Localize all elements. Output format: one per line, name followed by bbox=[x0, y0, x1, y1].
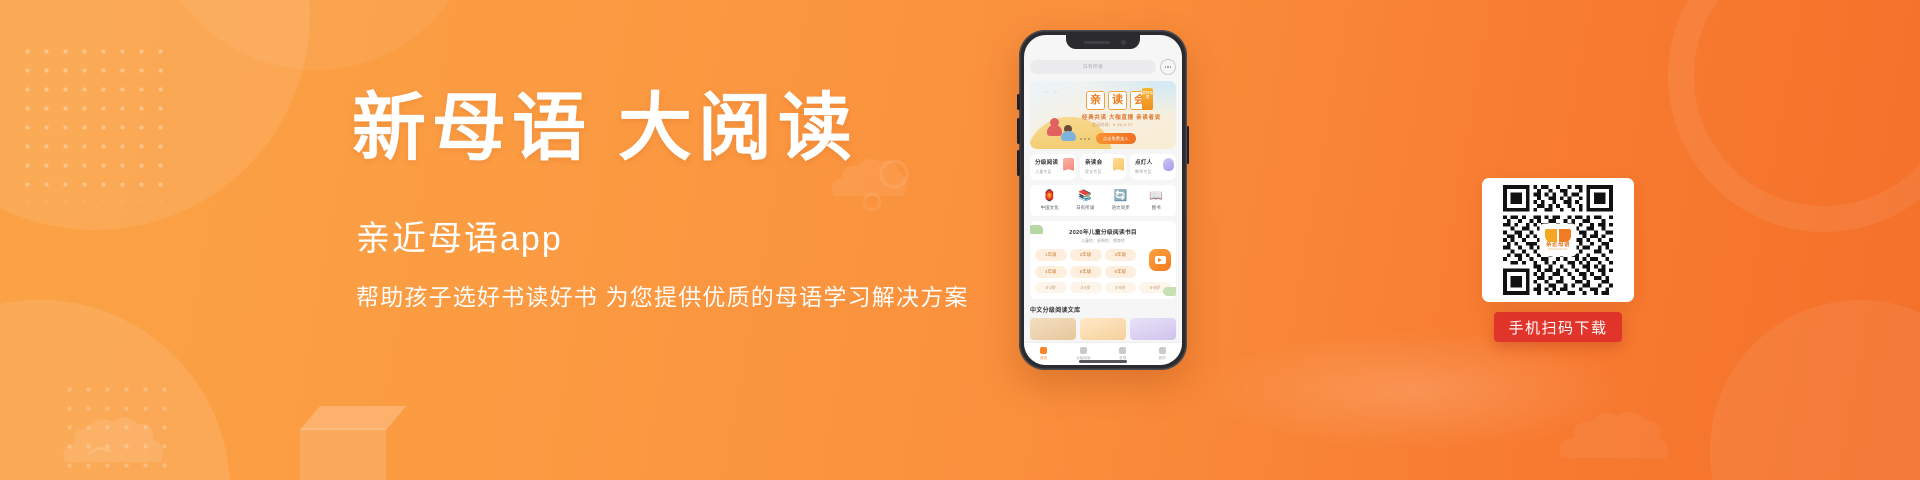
app-name: 亲近母语app bbox=[356, 222, 1052, 256]
age-chips-row: 0-3岁 3-4岁 4-5岁 5-6岁 bbox=[1035, 282, 1171, 293]
hero-birds-icon: ⌃ ⌃ bbox=[1044, 91, 1060, 97]
hero-pager-dots[interactable] bbox=[1080, 138, 1090, 140]
library-book-cover[interactable] bbox=[1030, 318, 1076, 340]
phone-volume-down-button bbox=[1017, 150, 1020, 176]
sync-icon: 🔄 bbox=[1114, 191, 1128, 202]
quick-link-daily-recitation[interactable]: 📚 日有所诵 bbox=[1068, 191, 1104, 211]
decorative-circle-bottom-left bbox=[0, 300, 230, 480]
library-book-row bbox=[1030, 318, 1176, 340]
decorative-glow bbox=[1200, 330, 1630, 450]
grid-icon bbox=[1080, 347, 1087, 354]
booklist-subtitle: 儿童性、经典性、教育性 bbox=[1035, 238, 1171, 244]
library-book-cover[interactable] bbox=[1130, 318, 1176, 340]
user-icon bbox=[1159, 347, 1166, 354]
app-search-bar: 日有所诵 bbox=[1030, 59, 1176, 75]
hero-title-char-2: 读 bbox=[1108, 91, 1127, 110]
phone-front-camera bbox=[1121, 40, 1126, 45]
library-section-title: 中文分级阅读文库 bbox=[1030, 305, 1176, 314]
phone-speaker bbox=[1084, 41, 1110, 44]
booklist-module: 2020年儿童分级阅读书目 儿童性、经典性、教育性 1年级 2年级 3年级 4年… bbox=[1030, 221, 1176, 300]
home-icon bbox=[1040, 347, 1047, 354]
quick-link-chinese-culture[interactable]: 🏮 中国文化 bbox=[1032, 191, 1068, 211]
age-chip-3[interactable]: 4-5岁 bbox=[1105, 282, 1137, 293]
phone-notch bbox=[1066, 35, 1140, 49]
compass-icon bbox=[1119, 347, 1126, 354]
decorative-ring-top-right bbox=[1668, 0, 1920, 232]
grade-chip-1[interactable]: 1年级 bbox=[1035, 249, 1067, 261]
grade-chip-3[interactable]: 3年级 bbox=[1105, 249, 1137, 261]
more-dots-icon[interactable] bbox=[1160, 59, 1176, 75]
quick-link-label: 日有所诵 bbox=[1076, 205, 1094, 211]
category-cards: 分级阅读 儿童专区 亲读会 家长专区 点灯人 教师专区 bbox=[1030, 154, 1176, 180]
open-book-icon bbox=[1545, 229, 1571, 242]
tagline: 帮助孩子选好书读好书 为您提供优质的母语学习解决方案 bbox=[356, 286, 1052, 309]
hero-child-2-body bbox=[1061, 131, 1076, 141]
grade-chip-4[interactable]: 4年级 bbox=[1035, 266, 1067, 278]
decorative-circle-top-left bbox=[0, 0, 310, 230]
grade-chips-row-1: 1年级 2年级 3年级 bbox=[1035, 249, 1171, 261]
phone-mute-switch bbox=[1017, 94, 1020, 110]
age-chip-1[interactable]: 0-3岁 bbox=[1035, 282, 1067, 293]
qr-code-card[interactable]: 亲近母语 QINJIN MUYU bbox=[1482, 178, 1634, 302]
quick-link-label: 中国文化 bbox=[1041, 205, 1059, 211]
hero-title: 亲 读 会 bbox=[1086, 91, 1149, 110]
hero-schedule: 活动时间：9.16-9.27 bbox=[1092, 123, 1133, 128]
hero-badge: 限时免费 bbox=[1142, 88, 1153, 110]
page-title: 新母语大阅读 bbox=[352, 92, 1052, 166]
decorative-dot-grid bbox=[18, 42, 168, 202]
app-content: 日有所诵 ⌃ ⌃ 亲 读 会 bbox=[1024, 51, 1182, 365]
lamp-purple-icon bbox=[1163, 158, 1174, 171]
phone-home-indicator bbox=[1079, 360, 1127, 363]
category-card-reading-club[interactable]: 亲读会 家长专区 bbox=[1080, 154, 1126, 180]
category-card-lamp-lighter[interactable]: 点灯人 教师专区 bbox=[1130, 154, 1176, 180]
tab-mine[interactable]: 我的 bbox=[1143, 347, 1183, 361]
brand-logo: 亲近母语 QINJIN MUYU bbox=[1541, 225, 1575, 255]
library-book-cover[interactable] bbox=[1080, 318, 1126, 340]
search-input[interactable]: 日有所诵 bbox=[1030, 60, 1156, 74]
tab-graded-reading[interactable]: 分级阅读 bbox=[1064, 347, 1104, 361]
grade-chip-5[interactable]: 5年级 bbox=[1070, 266, 1102, 278]
bookmark-red-icon bbox=[1063, 158, 1074, 171]
grade-chip-6[interactable]: 6年级 bbox=[1105, 266, 1137, 278]
booklist-title: 2020年儿童分级阅读书目 bbox=[1035, 227, 1171, 236]
tab-label: 我的 bbox=[1159, 356, 1166, 361]
decorative-circle-top-left-2 bbox=[150, 0, 480, 70]
grade-chip-2[interactable]: 2年级 bbox=[1070, 249, 1102, 261]
decorative-cube bbox=[300, 428, 386, 480]
logo-subtitle: QINJIN MUYU bbox=[1548, 249, 1567, 252]
headline-part-1: 新母语 bbox=[352, 88, 592, 170]
category-card-graded-reading[interactable]: 分级阅读 儿童专区 bbox=[1030, 154, 1076, 180]
phone-screen: 日有所诵 ⌃ ⌃ 亲 读 会 bbox=[1024, 35, 1182, 365]
decorative-dot-grid-2 bbox=[60, 380, 180, 470]
download-button[interactable]: 手机扫码下载 bbox=[1494, 312, 1622, 342]
decorative-circle-bottom-right bbox=[1710, 300, 1920, 480]
quick-link-label: 语文同步 bbox=[1112, 205, 1130, 211]
qr-download-block: 亲近母语 QINJIN MUYU 手机扫码下载 bbox=[1482, 178, 1634, 342]
books-icon: 📚 bbox=[1078, 191, 1092, 202]
hero-title-char-1: 亲 bbox=[1086, 91, 1105, 110]
hero-subtitle: 经典共读 大咖直播 亲读者说 bbox=[1082, 113, 1161, 121]
quick-links-row: 🏮 中国文化 📚 日有所诵 🔄 语文同步 📖 图书 bbox=[1030, 185, 1176, 216]
hero-join-button[interactable]: 点击免费加入 bbox=[1096, 133, 1136, 144]
book-icon: 📖 bbox=[1149, 191, 1163, 202]
app-hero-banner[interactable]: ⌃ ⌃ 亲 读 会 限时免费 经典共读 大咖直播 亲读者说 活动时间：9.16-… bbox=[1030, 81, 1176, 149]
grade-chips-row-2: 4年级 5年级 6年级 bbox=[1035, 266, 1171, 278]
headline-part-2: 大阅读 bbox=[618, 88, 858, 170]
promo-banner: 新母语大阅读 亲近母语app 帮助孩子选好书读好书 为您提供优质的母语学习解决方… bbox=[0, 0, 1920, 480]
leaf-icon-right bbox=[1163, 287, 1176, 296]
tab-label: 首页 bbox=[1040, 356, 1047, 361]
tab-discover[interactable]: 发现 bbox=[1103, 347, 1143, 361]
search-placeholder: 日有所诵 bbox=[1083, 64, 1103, 70]
age-chip-2[interactable]: 3-4岁 bbox=[1070, 282, 1102, 293]
phone-mockup: 日有所诵 ⌃ ⌃ 亲 读 会 bbox=[1019, 30, 1187, 370]
quick-link-label: 图书 bbox=[1152, 205, 1161, 211]
banner-copy: 新母语大阅读 亲近母语app 帮助孩子选好书读好书 为您提供优质的母语学习解决方… bbox=[352, 92, 1052, 309]
tab-home[interactable]: 首页 bbox=[1024, 347, 1064, 361]
bookmark-yellow-icon bbox=[1113, 158, 1124, 171]
phone-power-button bbox=[1187, 126, 1190, 164]
quick-link-textbook-sync[interactable]: 🔄 语文同步 bbox=[1103, 191, 1139, 211]
hero-child-1-body bbox=[1047, 125, 1062, 136]
decorative-cloud-icon bbox=[55, 402, 205, 472]
phone-volume-up-button bbox=[1017, 118, 1020, 144]
leaf-icon-left bbox=[1030, 225, 1043, 234]
lantern-icon: 🏮 bbox=[1043, 191, 1057, 202]
decorative-cloud-icon-3 bbox=[1550, 400, 1710, 470]
quick-link-books[interactable]: 📖 图书 bbox=[1139, 191, 1175, 211]
